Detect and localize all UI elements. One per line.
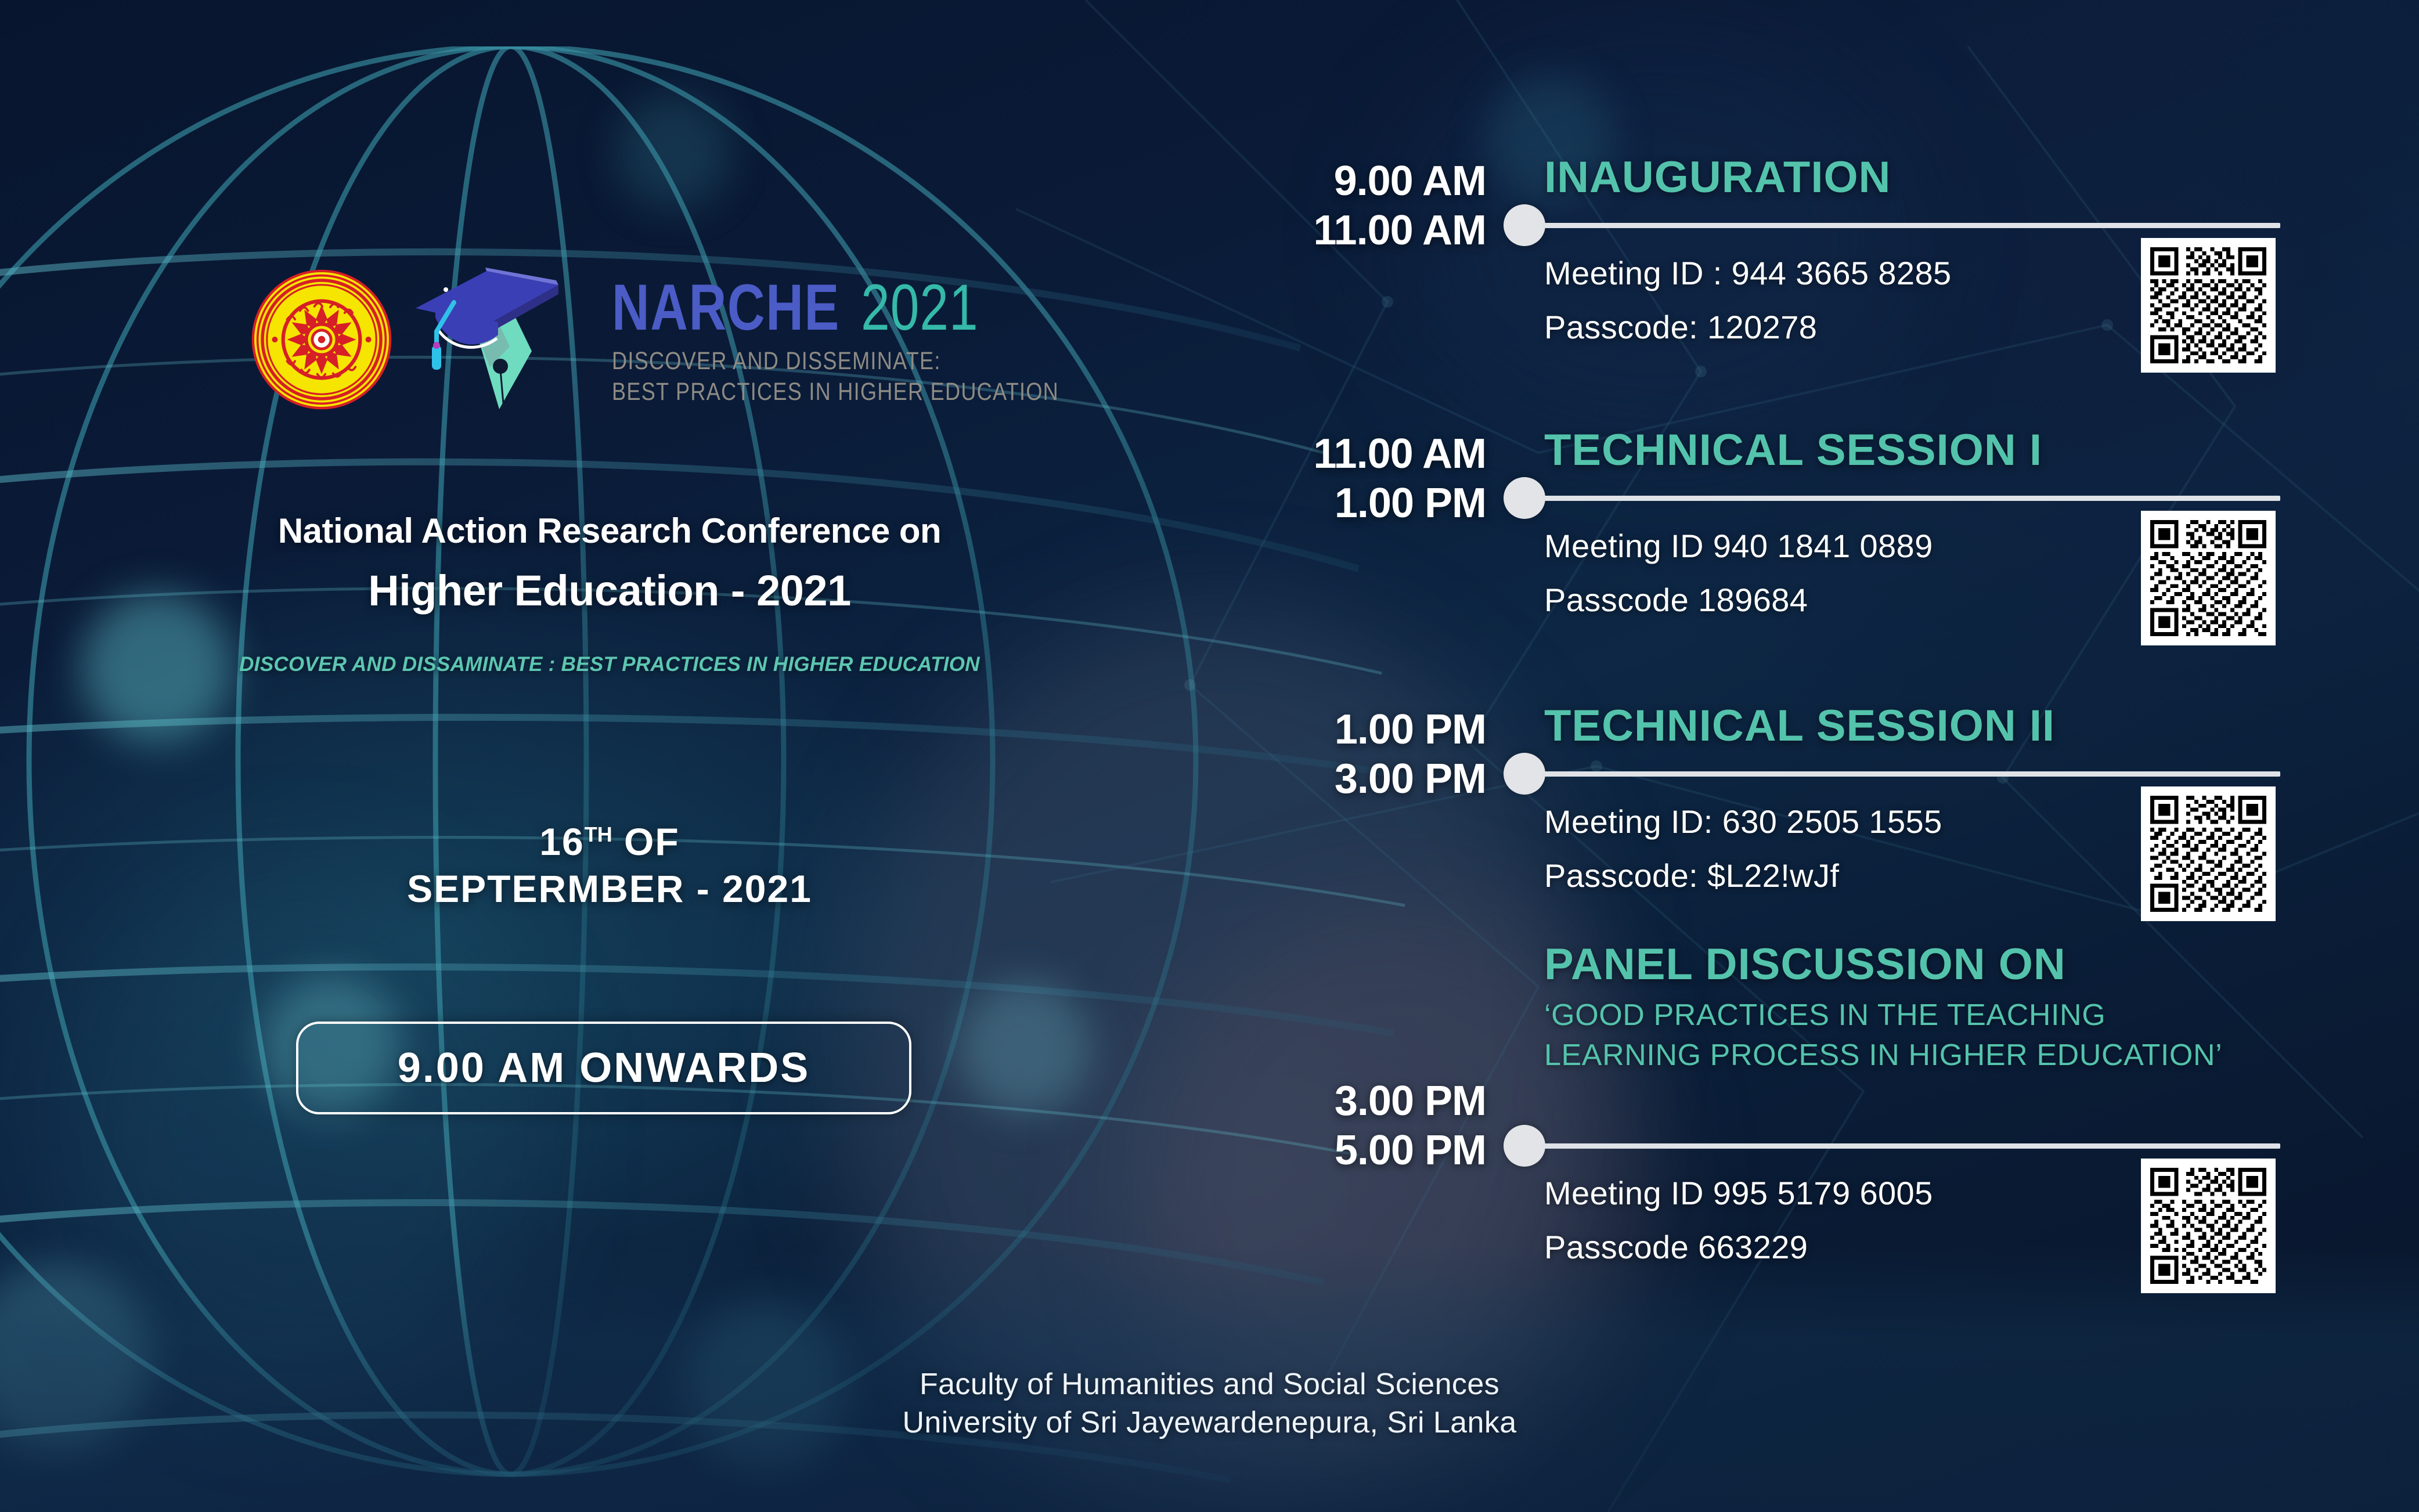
schedule-title: TECHNICAL SESSION II xyxy=(1544,701,2055,751)
time-end: 1.00 PM xyxy=(1219,479,1486,528)
footer-line2: University of Sri Jayewardenepura, Sri L… xyxy=(0,1403,2419,1442)
time-start: 1.00 PM xyxy=(1219,705,1486,755)
schedule-title: INAUGURATION xyxy=(1544,152,1891,203)
schedule-details: Meeting ID 940 1841 0889 Passcode 189684 xyxy=(1544,519,1933,627)
timeline-dot xyxy=(1504,1125,1545,1167)
schedule-title: TECHNICAL SESSION I xyxy=(1544,425,2042,475)
time-end: 11.00 AM xyxy=(1219,206,1486,255)
date-month-year: SEPTERMBER - 2021 xyxy=(0,865,1219,912)
timeline-rule xyxy=(1542,1143,2280,1149)
date-day-suffix: TH xyxy=(585,822,612,846)
time-end: 3.00 PM xyxy=(1219,755,1486,804)
timeline-rule xyxy=(1542,771,2280,777)
schedule-details: Meeting ID : 944 3665 8285 Passcode: 120… xyxy=(1544,247,1952,355)
date-of: OF xyxy=(612,820,680,863)
schedule-subtitle-line1: ‘GOOD PRACTICES IN THE TEACHING xyxy=(1544,995,2222,1035)
schedule-time: 11.00 AM 1.00 PM xyxy=(1219,430,1486,528)
time-start: 9.00 AM xyxy=(1219,157,1486,206)
schedule-subtitle-line2: LEARNING PROCESS IN HIGHER EDUCATION’ xyxy=(1544,1035,2222,1076)
logo-year: 2021 xyxy=(861,270,979,345)
logo-wordmark: NARCHE 2021 xyxy=(612,270,1144,345)
qr-code-icon[interactable] xyxy=(2141,1159,2276,1293)
conference-subtitle: DISCOVER AND DISSAMINATE : BEST PRACTICE… xyxy=(0,653,1219,676)
footer-line1: Faculty of Humanities and Social Science… xyxy=(0,1365,2419,1404)
brand-text: NARCHE 2021 DISCOVER AND DISSEMINATE: BE… xyxy=(612,270,1144,409)
schedule-title: PANEL DISCUSSION ON xyxy=(1544,939,2066,990)
schedule-time: 1.00 PM 3.00 PM xyxy=(1219,705,1486,804)
schedule-details: Meeting ID: 630 2505 1555 Passcode: $L22… xyxy=(1544,795,1942,903)
timeline-rule xyxy=(1542,223,2280,228)
university-seal-icon xyxy=(250,268,394,412)
schedule-time: 9.00 AM 11.00 AM xyxy=(1219,157,1486,255)
schedule-timeline: 9.00 AM 11.00 AM INAUGURATION Meeting ID… xyxy=(1219,0,2419,1512)
brand-row: NARCHE 2021 DISCOVER AND DISSEMINATE: BE… xyxy=(250,264,1144,415)
passcode: Passcode: 120278 xyxy=(1544,301,1952,355)
schedule-subtitle: ‘GOOD PRACTICES IN THE TEACHING LEARNING… xyxy=(1544,995,2222,1075)
meeting-id: Meeting ID 995 5179 6005 xyxy=(1544,1167,1933,1221)
qr-code-icon[interactable] xyxy=(2141,238,2276,373)
date-day-line: 16TH OF xyxy=(0,818,1219,865)
time-end: 5.00 PM xyxy=(1219,1126,1486,1175)
logo-word: NARCHE xyxy=(612,270,840,345)
start-time-label: 9.00 AM ONWARDS xyxy=(398,1044,810,1092)
date-block: 16TH OF SEPTERMBER - 2021 xyxy=(0,818,1219,912)
passcode: Passcode 663229 xyxy=(1544,1221,1933,1275)
graduation-cap-pen-icon xyxy=(412,264,586,415)
logo-tagline-line2: BEST PRACTICES IN HIGHER EDUCATION xyxy=(612,378,1059,406)
meeting-id: Meeting ID 940 1841 0889 xyxy=(1544,519,1933,573)
timeline-dot xyxy=(1504,204,1545,246)
time-start: 11.00 AM xyxy=(1219,430,1486,479)
passcode: Passcode 189684 xyxy=(1544,573,1933,627)
passcode: Passcode: $L22!wJf xyxy=(1544,849,1942,903)
schedule-details: Meeting ID 995 5179 6005 Passcode 663229 xyxy=(1544,1167,1933,1275)
logo-tagline-line1: DISCOVER AND DISSEMINATE: xyxy=(612,347,1059,375)
qr-code-icon[interactable] xyxy=(2141,786,2276,921)
timeline-dot xyxy=(1504,477,1545,519)
meeting-id: Meeting ID: 630 2505 1555 xyxy=(1544,795,1942,849)
left-content-column: NARCHE 2021 DISCOVER AND DISSEMINATE: BE… xyxy=(0,0,1219,1512)
time-start: 3.00 PM xyxy=(1219,1077,1486,1126)
meeting-id: Meeting ID : 944 3665 8285 xyxy=(1544,247,1952,301)
timeline-rule xyxy=(1542,496,2280,501)
date-day: 16 xyxy=(539,820,584,863)
footer: Faculty of Humanities and Social Science… xyxy=(0,1365,2419,1442)
conference-title-line1: National Action Research Conference on xyxy=(0,511,1219,551)
qr-code-icon[interactable] xyxy=(2141,511,2276,645)
start-time-badge: 9.00 AM ONWARDS xyxy=(296,1022,911,1114)
timeline-dot xyxy=(1504,753,1545,795)
schedule-time: 3.00 PM 5.00 PM xyxy=(1219,1077,1486,1175)
poster-canvas: NARCHE 2021 DISCOVER AND DISSEMINATE: BE… xyxy=(0,0,2419,1512)
conference-title-line2: Higher Education - 2021 xyxy=(0,566,1219,615)
